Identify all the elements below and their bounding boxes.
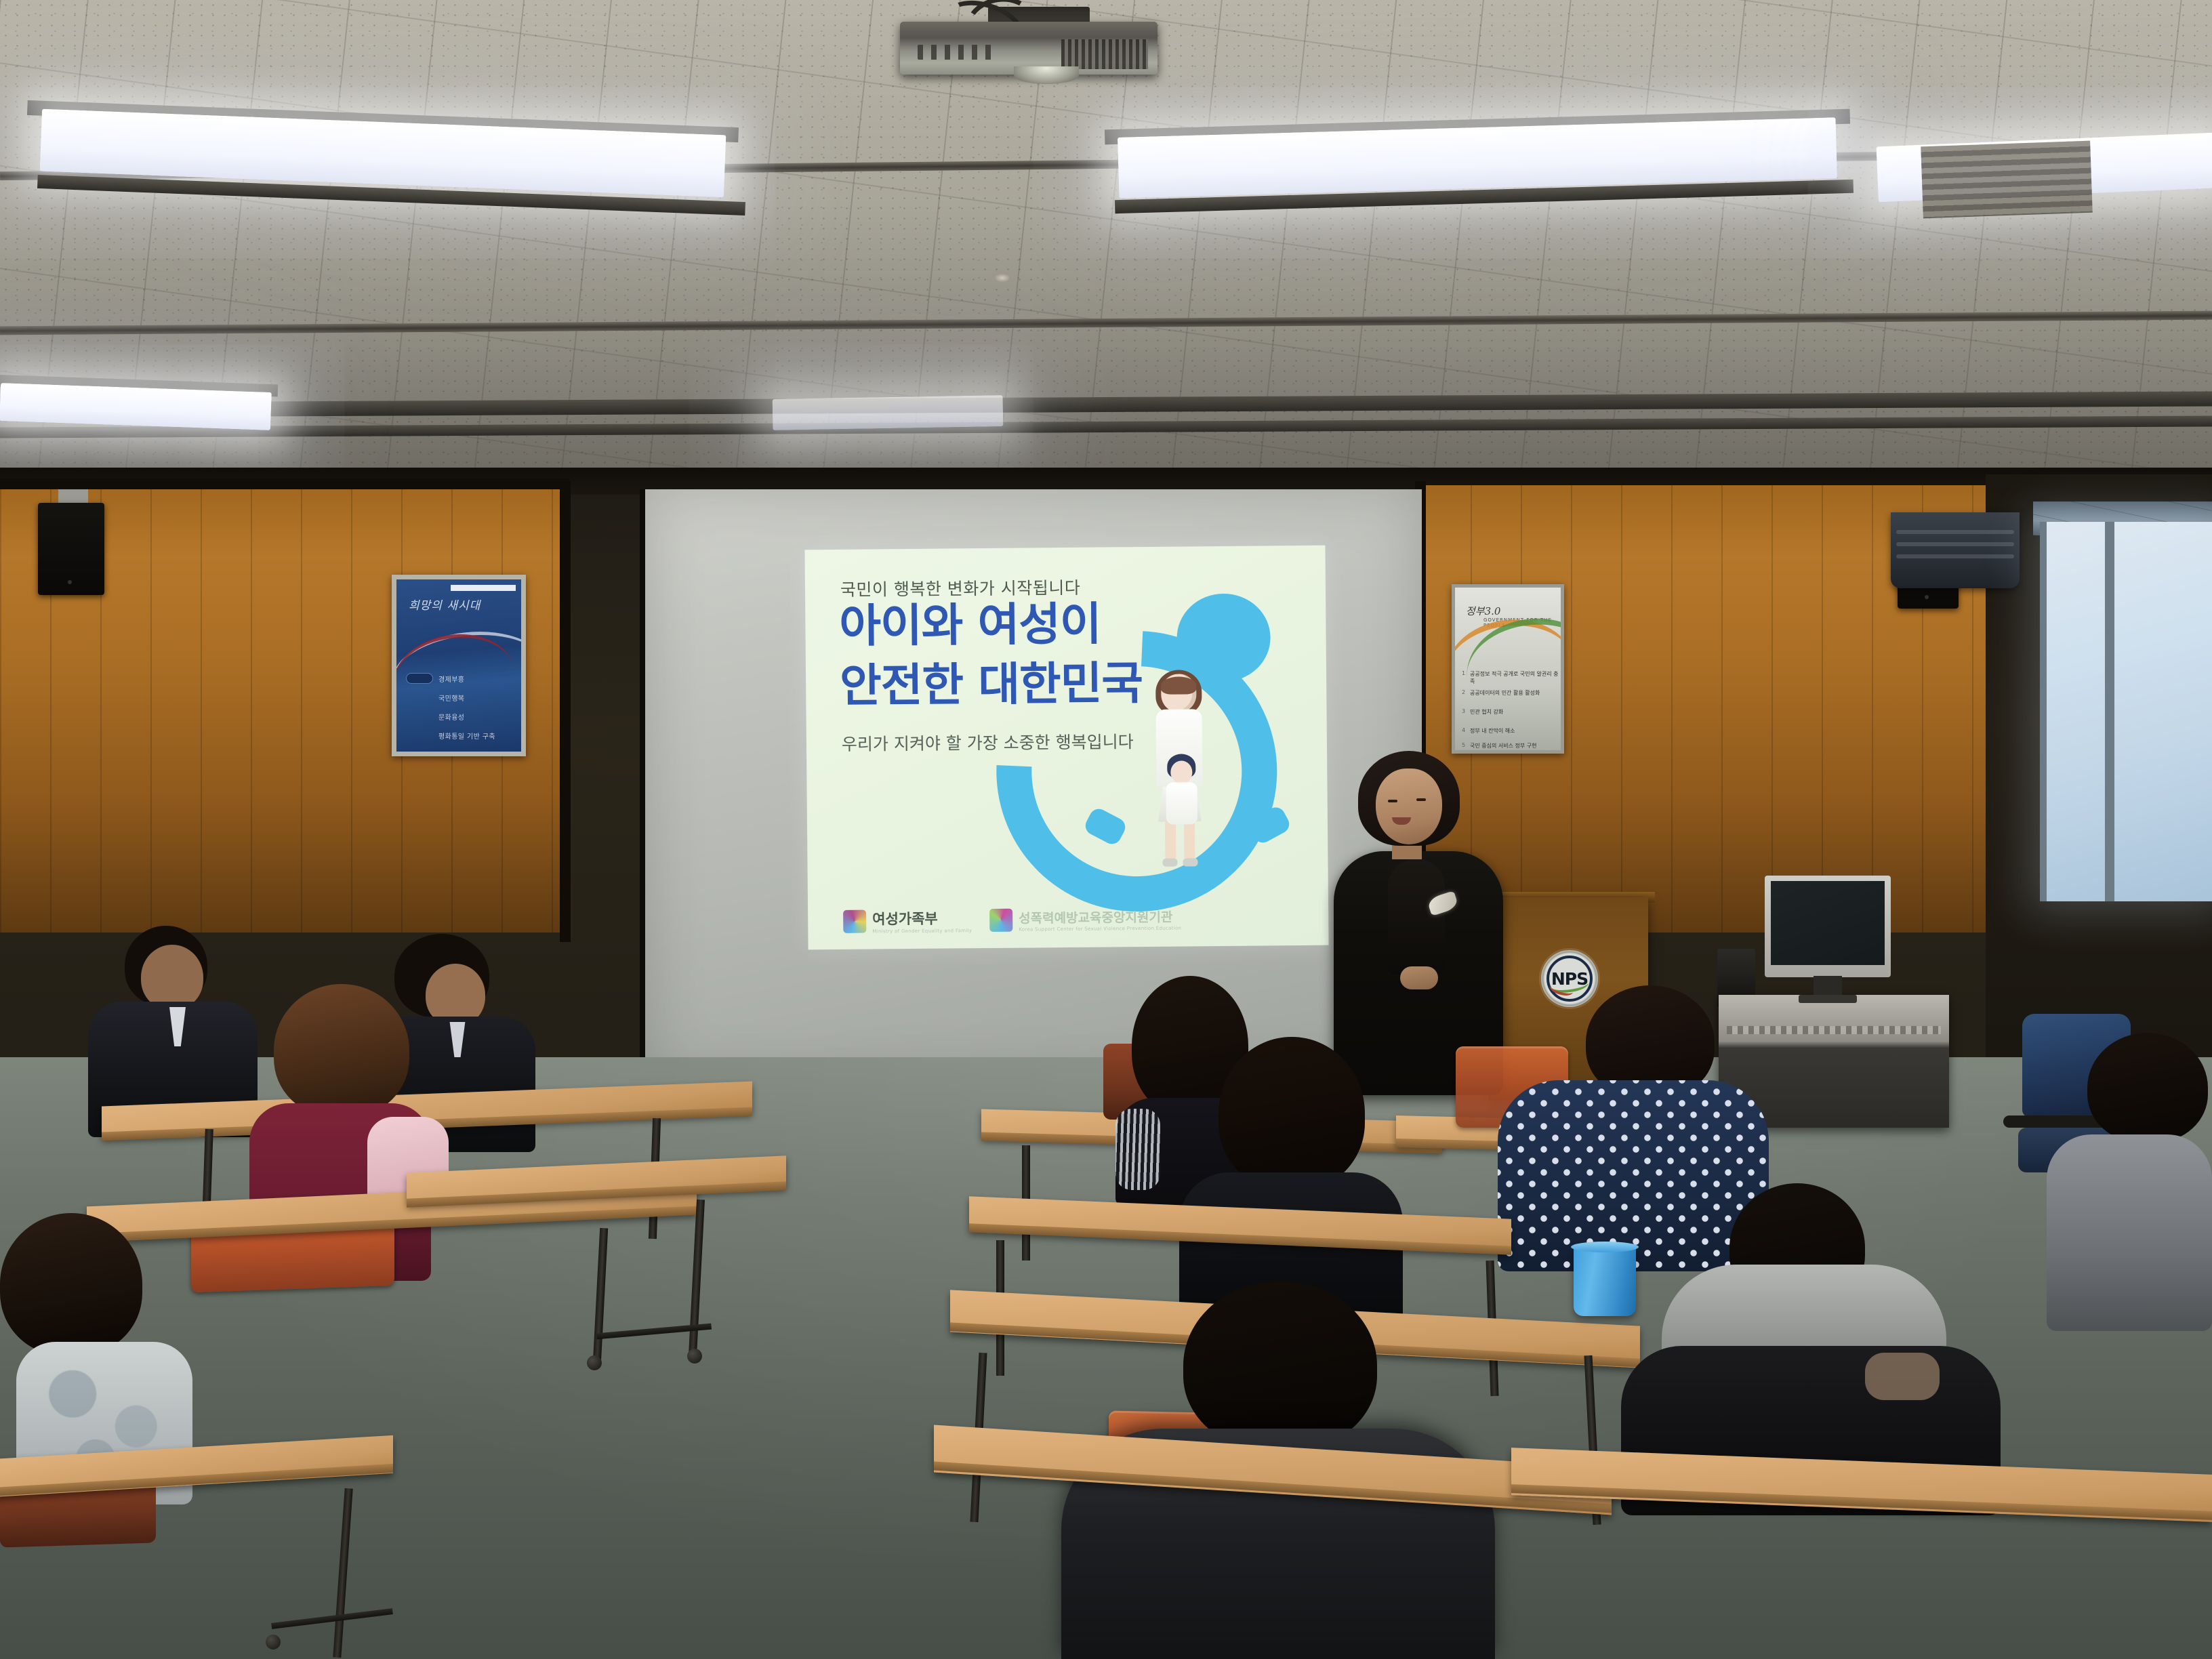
poster-right-title: 정부3.0 <box>1466 604 1500 618</box>
window <box>2040 522 2212 901</box>
presenter-face <box>1376 769 1442 844</box>
classroom-scene: 국민이 행복한 변화가 시작됩니다 아이와 여성이 안전한 대한민국 우리가 지… <box>0 0 2212 1659</box>
poster-right-num-3: 4 <box>1462 727 1465 733</box>
projector-vent <box>1061 39 1148 69</box>
striped-sleeve <box>1115 1109 1160 1190</box>
poster-left-item-0: 경제부흥 <box>438 674 464 684</box>
poster-right-num-0: 1 <box>1462 670 1465 676</box>
audience-person-far-right <box>2006 1033 2212 1331</box>
logo-support-center: 성폭력예방교육중앙지원기관 Korea Support Center for S… <box>989 907 1181 932</box>
poster-right-num-2: 3 <box>1462 708 1465 714</box>
poster-right-item-1: 공공데이터의 민간 활용 활성화 <box>1470 689 1540 697</box>
logo-support-en: Korea Support Center for Sexual Violence… <box>1019 925 1181 932</box>
poster-right-item-0: 공공정보 적극 공개로 국민의 알권리 충족 <box>1470 670 1561 685</box>
poster-left-item-3: 평화통일 기반 구축 <box>438 731 495 741</box>
logo-mogef-en: Ministry of Gender Equality and Family <box>872 928 972 934</box>
air-conditioner-unit <box>1891 512 2020 588</box>
nps-logo-label: NPS <box>1551 969 1588 989</box>
lcd-monitor <box>1765 876 1891 977</box>
logo-support-label: 성폭력예방교육중앙지원기관 <box>1019 907 1181 926</box>
poster-right-num-1: 2 <box>1462 689 1465 695</box>
poster-left-badge <box>406 673 433 684</box>
slide-kicker: 국민이 행복한 변화가 시작됩니다 <box>840 575 1081 601</box>
ceiling-vent <box>1921 141 2093 219</box>
support-center-mark-icon <box>989 909 1012 932</box>
wall-poster-left: 희망의 새시대 경제부흥 국민행복 문화융성 평화통일 기반 구축 <box>392 575 526 756</box>
poster-right-num-4: 5 <box>1462 742 1465 748</box>
ceiling-light-5 <box>773 395 1004 430</box>
projector-lens <box>1014 66 1079 84</box>
poster-right-item-2: 민관 협치 강화 <box>1470 708 1503 716</box>
presenter-hands <box>1400 966 1438 989</box>
poster-left-item-2: 문화융성 <box>438 712 464 722</box>
audience-person-center-right <box>1179 1037 1403 1322</box>
embrace-head-graphic <box>1176 593 1271 682</box>
monitor-screen <box>1771 881 1885 965</box>
slide-headline-1: 아이와 여성이 <box>839 600 1101 651</box>
audience-person-left-back <box>88 926 258 1129</box>
sprinkler-icon <box>995 274 1010 282</box>
poster-right-item-3: 정부 내 칸막이 해소 <box>1470 727 1515 735</box>
projector-ports <box>918 45 999 60</box>
poster-left-title: 희망의 새시대 <box>409 596 480 613</box>
poster-right-item-4: 국민 중심의 서비스 정부 구현 <box>1470 742 1537 750</box>
poster-left-item-1: 국민행복 <box>438 693 464 703</box>
projector <box>900 7 1158 91</box>
logo-mogef-label: 여성가족부 <box>872 907 972 928</box>
slide-logo-row: 여성가족부 Ministry of Gender Equality and Fa… <box>843 906 1181 935</box>
slide-figure-mother-child <box>1146 674 1213 871</box>
mogef-mark-icon <box>843 910 866 933</box>
wall-poster-right: 정부3.0 GOVERNMENT FOR THE PEOPLE 1 공공정보 적… <box>1452 584 1564 754</box>
projected-slide: 국민이 행복한 변화가 시작됩니다 아이와 여성이 안전한 대한민국 우리가 지… <box>804 546 1328 950</box>
logo-mogef: 여성가족부 Ministry of Gender Equality and Fa… <box>843 907 972 935</box>
